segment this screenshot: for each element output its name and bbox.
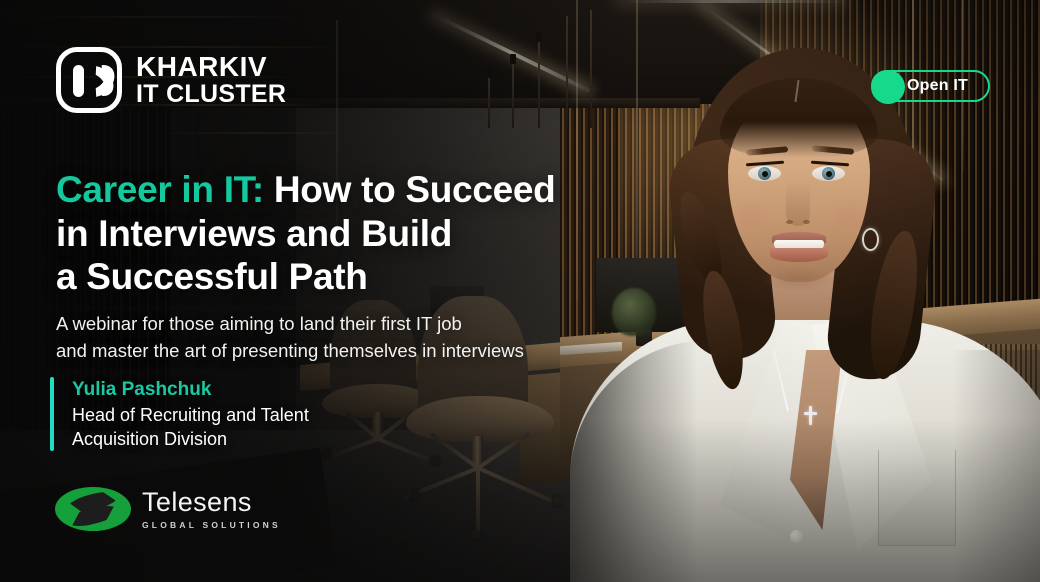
page-title: Career in IT: How to Succeed in Intervie… bbox=[56, 168, 666, 299]
speaker-name: Yulia Pashchuk bbox=[72, 377, 309, 403]
telesens-wordmark: Telesens GLOBAL SOLUTIONS bbox=[142, 488, 281, 529]
status-dot-icon bbox=[871, 70, 905, 104]
telesens-tagline: GLOBAL SOLUTIONS bbox=[142, 520, 281, 530]
subtitle-line-1: A webinar for those aiming to land their… bbox=[56, 313, 462, 334]
speaker-role-line-2: Acquisition Division bbox=[72, 427, 309, 452]
open-it-label: Open IT bbox=[907, 77, 968, 95]
accent-rule bbox=[50, 377, 54, 451]
logo-line-2: IT CLUSTER bbox=[136, 82, 286, 108]
headline-line-3: a Successful Path bbox=[56, 256, 368, 297]
logo-wordmark: KHARKIV IT CLUSTER bbox=[136, 53, 286, 107]
subtitle-line-2: and master the art of presenting themsel… bbox=[56, 340, 524, 361]
telesens-swirl-icon bbox=[55, 487, 131, 531]
banner-content: KHARKIV IT CLUSTER Open IT Career in IT:… bbox=[0, 0, 1040, 582]
subtitle: A webinar for those aiming to land their… bbox=[56, 310, 656, 364]
headline-line-2: in Interviews and Build bbox=[56, 213, 452, 254]
headline-rest-1: How to Succeed bbox=[264, 169, 556, 210]
kharkiv-it-cluster-logo-icon bbox=[56, 47, 122, 113]
speaker-block: Yulia Pashchuk Head of Recruiting and Ta… bbox=[50, 377, 309, 452]
headline-accent: Career in IT: bbox=[56, 169, 264, 210]
telesens-logo[interactable]: Telesens GLOBAL SOLUTIONS bbox=[55, 487, 281, 531]
kharkiv-it-cluster-logo[interactable]: KHARKIV IT CLUSTER bbox=[56, 47, 286, 113]
logo-line-1: KHARKIV bbox=[136, 53, 286, 82]
open-it-badge[interactable]: Open IT bbox=[871, 70, 990, 102]
speaker-role-line-1: Head of Recruiting and Talent bbox=[72, 403, 309, 428]
telesens-name: Telesens bbox=[142, 488, 281, 516]
webinar-banner: KHARKIV IT CLUSTER Open IT Career in IT:… bbox=[0, 0, 1040, 582]
